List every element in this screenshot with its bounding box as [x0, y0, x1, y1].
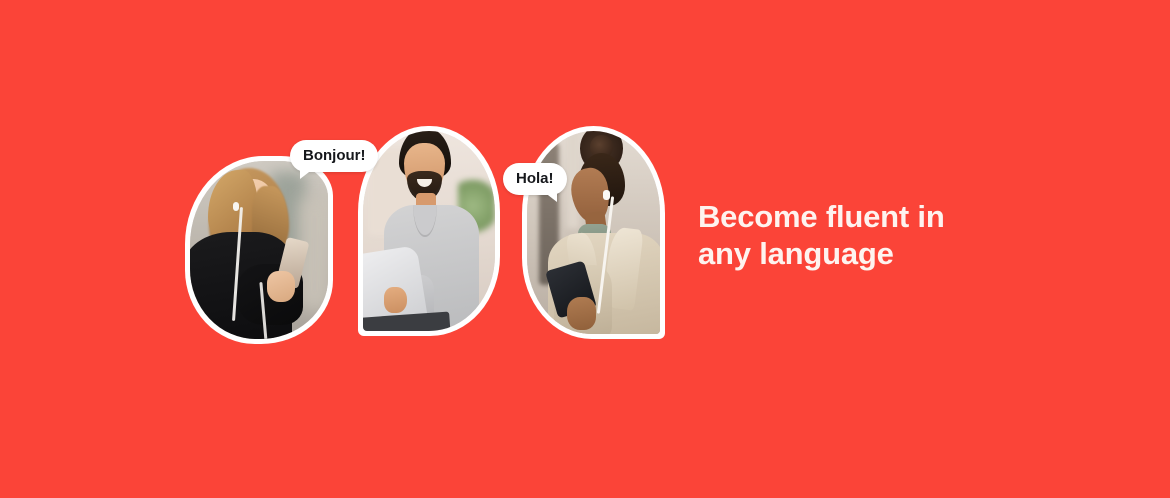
headline-line-1: Become fluent in	[698, 198, 1098, 235]
scene1-earbud	[233, 202, 239, 211]
scene-man-laptop	[363, 131, 495, 331]
scene1-hand	[267, 271, 295, 301]
scene3-earbud	[603, 190, 610, 200]
scene3-hand	[567, 297, 596, 329]
photo-2-image	[363, 131, 495, 331]
photo-man-with-laptop	[358, 126, 500, 336]
photo-collage	[185, 126, 680, 344]
speech-bubble-bonjour: Bonjour!	[290, 140, 378, 172]
headline: Become fluent in any language	[698, 198, 1098, 272]
photo-woman-with-phone	[185, 156, 333, 344]
promo-banner: Bonjour! Hola! Become fluent in any lang…	[0, 0, 1170, 498]
photo-1-image	[190, 161, 328, 339]
scene-woman-trench	[527, 131, 660, 334]
photo-woman-trench-coat	[522, 126, 665, 339]
photo-3-image	[527, 131, 660, 334]
headline-line-2: any language	[698, 235, 1098, 272]
scene-woman-street	[190, 161, 328, 339]
speech-bubble-hola: Hola!	[503, 163, 567, 195]
scene2-hand	[384, 287, 406, 313]
